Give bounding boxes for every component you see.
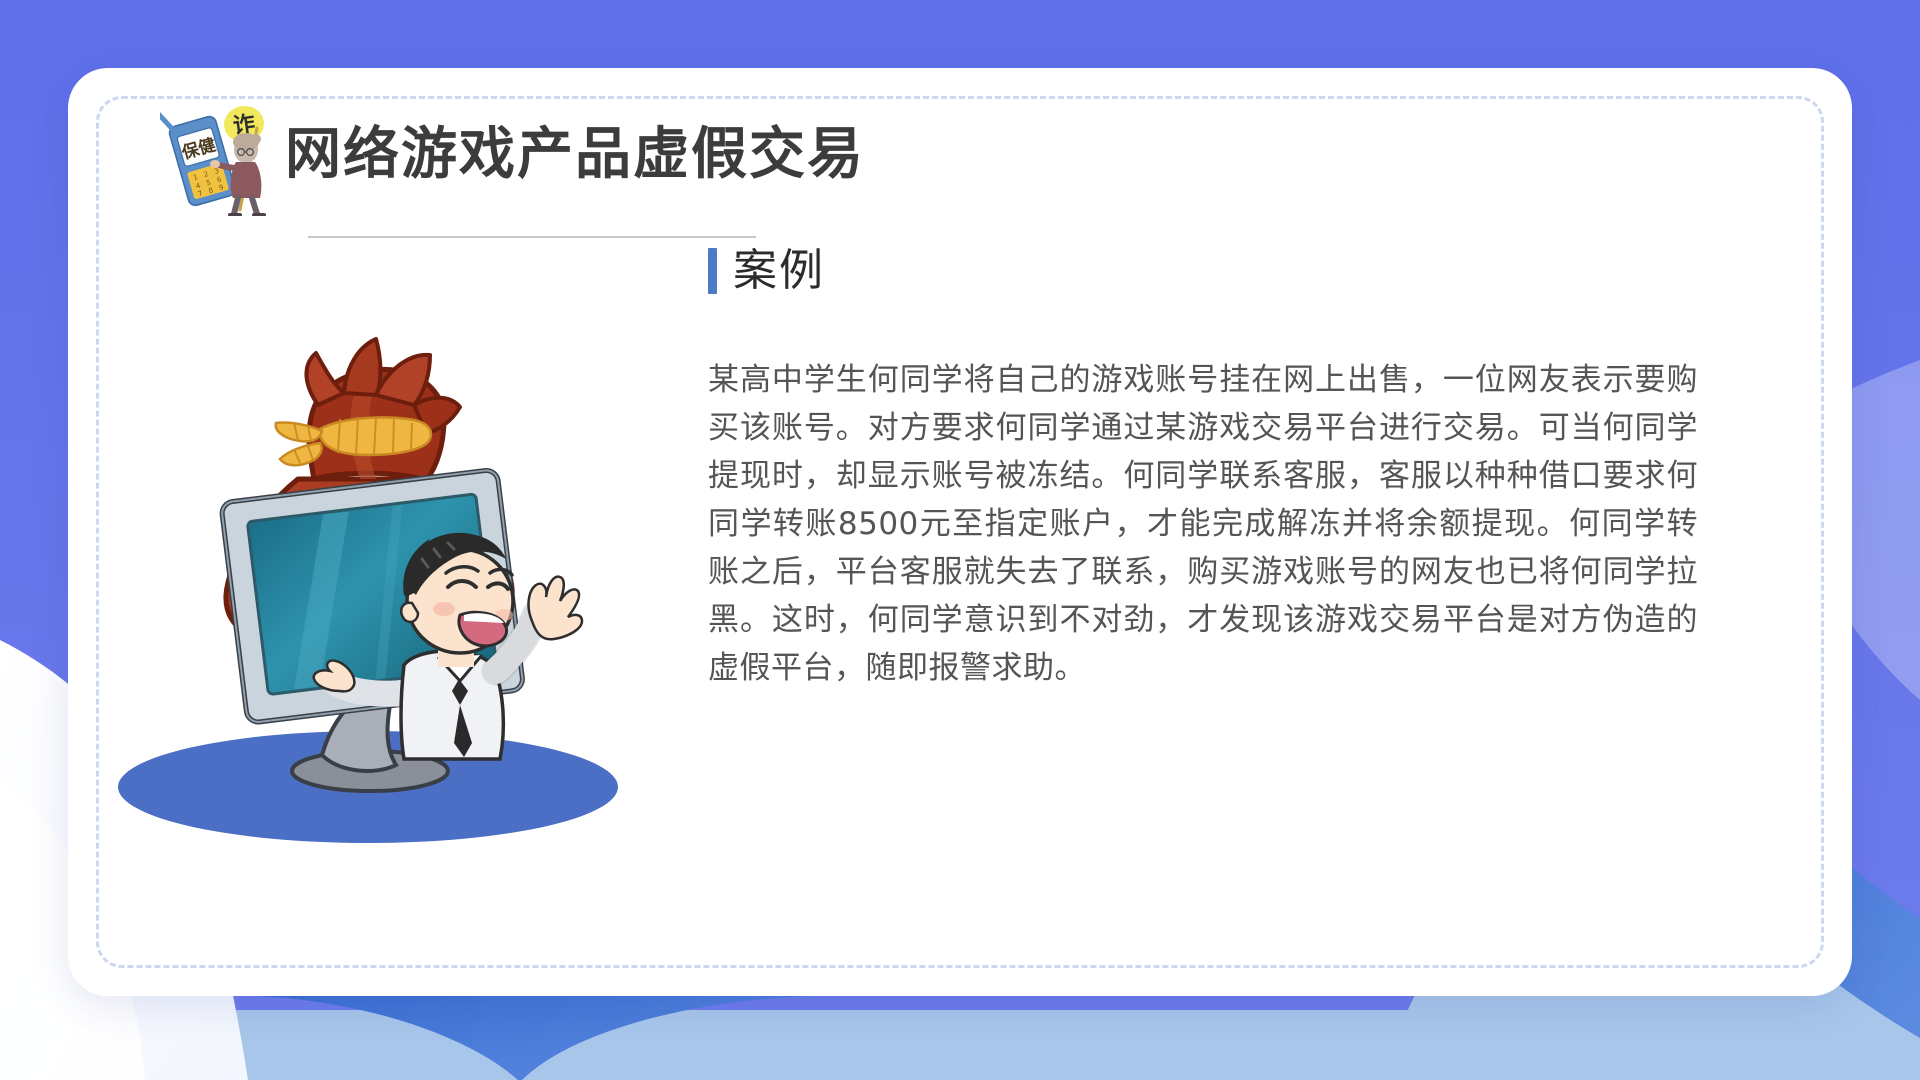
money-bag-and-man-in-monitor-illustration bbox=[108, 243, 668, 883]
slide-card: 保健 123 456 789 诈 bbox=[68, 68, 1852, 996]
slide-header: 保健 123 456 789 诈 bbox=[160, 98, 865, 216]
case-accent-bar bbox=[708, 248, 717, 294]
case-heading-row: 案例 bbox=[708, 248, 1748, 294]
case-heading: 案例 bbox=[733, 249, 825, 293]
elderly-phone-fraud-icon: 保健 123 456 789 诈 bbox=[160, 98, 275, 216]
page-title: 网络游戏产品虚假交易 bbox=[285, 127, 865, 187]
case-panel: 案例 某高中学生何同学将自己的游戏账号挂在网上出售，一位网友表示要购买该账号。对… bbox=[708, 248, 1748, 692]
title-underline bbox=[308, 236, 756, 238]
case-body-text: 某高中学生何同学将自己的游戏账号挂在网上出售，一位网友表示要购买该账号。对方要求… bbox=[708, 356, 1698, 692]
